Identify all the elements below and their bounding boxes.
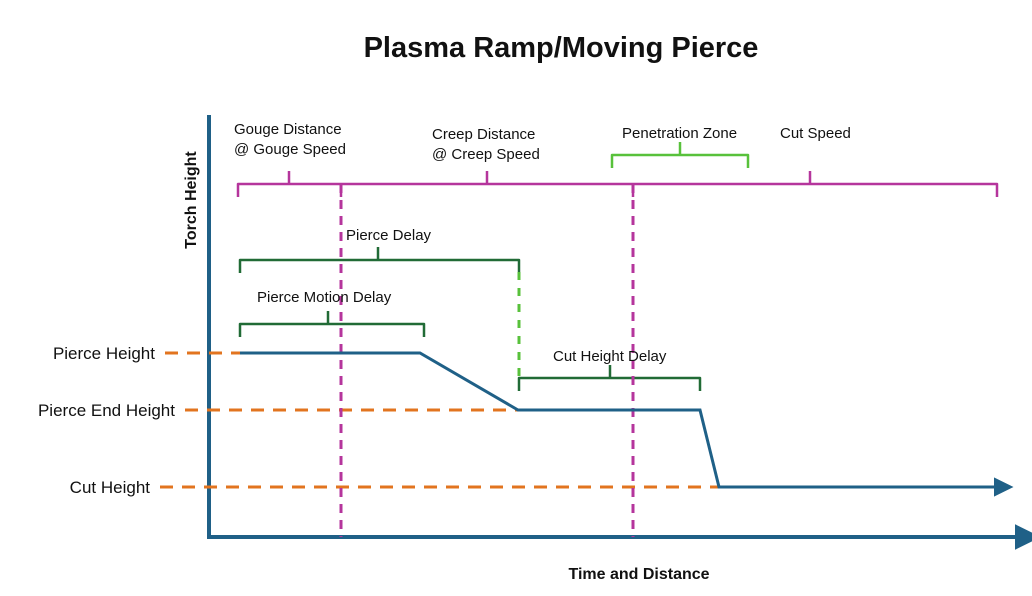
torch-height-line <box>240 353 993 487</box>
height-level-label: Pierce Height <box>53 344 155 363</box>
plasma-ramp-diagram: Plasma Ramp/Moving Pierce Torch Height T… <box>0 0 1032 596</box>
speed-zone-label: @ Creep Speed <box>432 146 540 163</box>
annotation-labels: Pierce HeightPierce End HeightCut Height… <box>38 121 851 497</box>
speed-zone-band <box>238 171 997 197</box>
bracket-label: Penetration Zone <box>622 125 737 142</box>
bracket-cut-height-delay <box>519 378 700 391</box>
height-reference-levels <box>160 353 720 487</box>
bracket-pierce-delay <box>240 260 519 273</box>
speed-zone-label: Cut Speed <box>780 125 851 142</box>
diagram-canvas: Plasma Ramp/Moving Pierce Torch Height T… <box>0 0 1032 596</box>
speed-zone-label: @ Gouge Speed <box>234 141 346 158</box>
torch-height-trace <box>240 353 997 487</box>
height-level-label: Pierce End Height <box>38 401 175 420</box>
speed-zone-label: Gouge Distance <box>234 121 342 138</box>
y-axis-title: Torch Height <box>183 151 200 249</box>
x-axis-title: Time and Distance <box>568 566 709 583</box>
page-title: Plasma Ramp/Moving Pierce <box>364 32 759 64</box>
speed-zone-label: Creep Distance <box>432 126 535 143</box>
speed-band-line <box>238 184 997 197</box>
axes <box>207 115 1019 537</box>
bracket-label: Pierce Delay <box>346 227 432 244</box>
bracket-label: Pierce Motion Delay <box>257 289 392 306</box>
bracket-label: Cut Height Delay <box>553 348 667 365</box>
bracket-pierce-motion-delay <box>240 324 424 337</box>
bracket-penetration-zone <box>612 155 748 168</box>
height-level-label: Cut Height <box>70 478 151 497</box>
